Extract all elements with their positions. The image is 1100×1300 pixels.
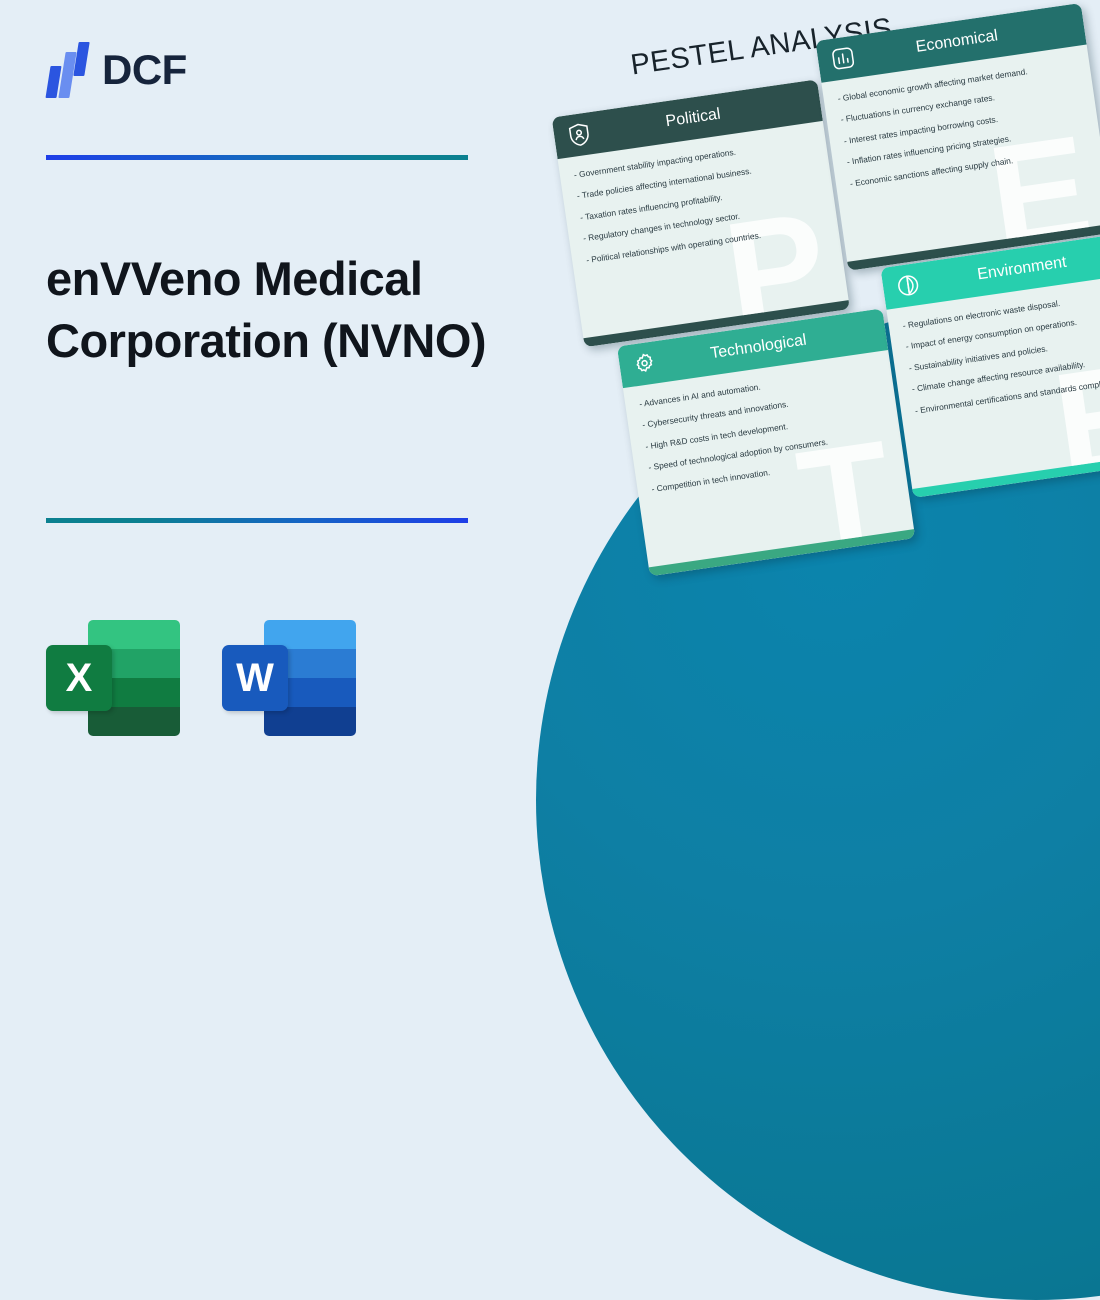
pestel-card-technological[interactable]: Technological T Advances in AI and autom… bbox=[617, 308, 915, 576]
download-format-icons: X W bbox=[46, 620, 356, 736]
word-icon[interactable]: W bbox=[222, 620, 356, 736]
card-body-economical: E Global economic growth affecting marke… bbox=[821, 45, 1100, 262]
bullet-list-environment: Regulations on electronic waste disposal… bbox=[902, 287, 1100, 414]
divider-bottom bbox=[46, 518, 468, 523]
excel-icon[interactable]: X bbox=[46, 620, 180, 736]
brand-logo[interactable]: DCF bbox=[46, 38, 187, 102]
pestel-card-economical[interactable]: Economical E Global economic growth affe… bbox=[815, 3, 1100, 271]
card-body-environment: E Regulations on electronic waste dispos… bbox=[886, 272, 1100, 489]
page-title: enVVeno Medical Corporation (NVNO) bbox=[46, 248, 516, 371]
word-letter: W bbox=[222, 645, 288, 711]
excel-letter: X bbox=[46, 645, 112, 711]
bullet-list-economical: Global economic growth affecting market … bbox=[837, 60, 1088, 187]
bar-chart-icon bbox=[828, 44, 857, 73]
divider-top bbox=[46, 155, 468, 160]
bullet-list-technological: Advances in AI and automation. Cybersecu… bbox=[639, 366, 890, 493]
bar-chart-logo-icon bbox=[46, 42, 92, 98]
gear-icon bbox=[630, 349, 659, 378]
left-panel: DCF enVVeno Medical Corporation (NVNO) X… bbox=[0, 0, 536, 805]
brand-logo-text: DCF bbox=[102, 49, 187, 91]
pestel-card-political[interactable]: Political P Government stability impacti… bbox=[552, 79, 850, 347]
pestel-grid: Political P Government stability impacti… bbox=[551, 37, 1100, 609]
pestel-card-environment[interactable]: Environment E Regulations on electronic … bbox=[880, 230, 1100, 498]
bullet-list-political: Government stability impacting operation… bbox=[573, 137, 824, 264]
card-body-political: P Government stability impacting operati… bbox=[558, 121, 849, 338]
shield-user-icon bbox=[565, 120, 594, 149]
card-body-technological: T Advances in AI and automation. Cyberse… bbox=[623, 350, 914, 567]
pestel-graphic: PESTEL ANALYSIS Political P bbox=[556, 6, 1100, 606]
leaf-icon bbox=[893, 271, 922, 300]
